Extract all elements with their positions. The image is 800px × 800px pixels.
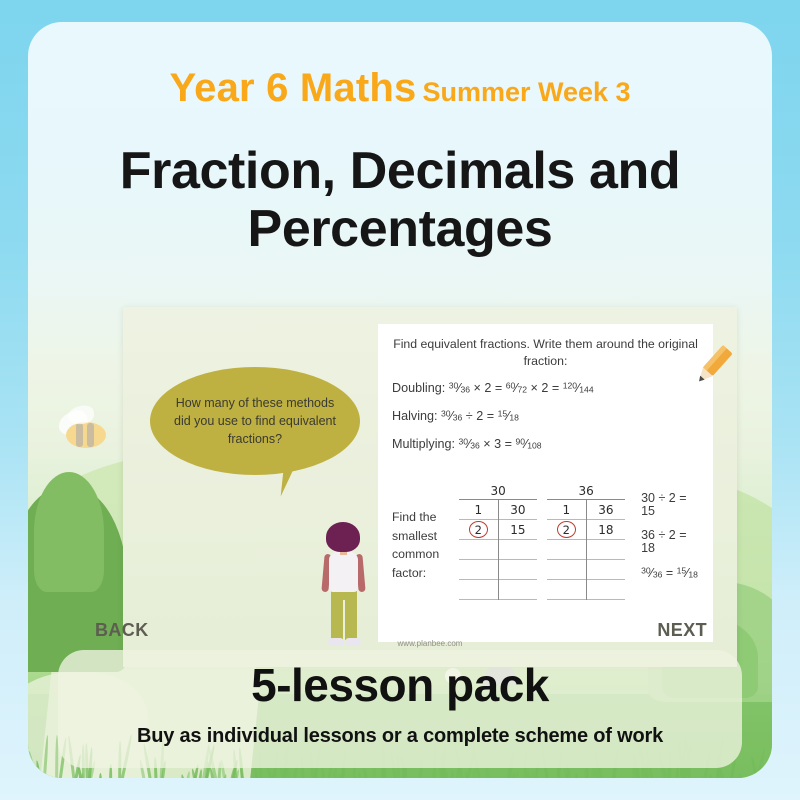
child-character — [316, 522, 372, 652]
den: 36 — [653, 569, 663, 579]
calculations-column: 30 ÷ 2 = 15 36 ÷ 2 = 18 30⁄36 = 15⁄18 — [625, 484, 703, 600]
circled-value: 2 — [469, 521, 488, 538]
cell-pair — [587, 560, 626, 579]
den: 36 — [453, 413, 463, 423]
speech-bubble: How many of these methods did you use to… — [150, 367, 360, 475]
fraction-15-18-a: 15⁄18 — [498, 408, 519, 424]
num: 30 — [641, 565, 651, 575]
pencil-icon — [683, 340, 737, 394]
page-title-line-2: Percentages — [68, 200, 732, 258]
bush-left-top — [34, 472, 104, 592]
num: 60 — [506, 381, 516, 391]
grass-blade — [357, 771, 362, 778]
num: 30 — [449, 381, 459, 391]
page-title: Fraction, Decimals and Percentages — [68, 142, 732, 258]
child-leg-gap — [343, 600, 345, 640]
cell-pair — [587, 580, 626, 599]
den: 36 — [470, 441, 480, 451]
lesson-slide-preview[interactable]: How many of these methods did you use to… — [123, 307, 737, 667]
fraction-30-36-c: 30⁄36 — [459, 436, 480, 452]
bee-body — [66, 422, 106, 448]
cell-pair: 36 — [587, 500, 626, 519]
den: 108 — [527, 441, 541, 451]
worksheet-line-multiplying: Multiplying: 30⁄36 × 3 = 90⁄108 — [392, 436, 699, 452]
factor-prompt-line-1: Find the — [392, 508, 457, 527]
grass-blade — [575, 773, 579, 778]
num: 90 — [516, 437, 526, 447]
table-divider — [498, 500, 499, 600]
grass-blade — [613, 774, 618, 778]
grass-blade — [527, 770, 530, 778]
worksheet-line-halving: Halving: 30⁄36 ÷ 2 = 15⁄18 — [392, 408, 699, 424]
cell-factor: 1 — [547, 500, 587, 519]
buy-label: Buy as individual lessons or a complete … — [28, 725, 772, 748]
factor-table-body: 130215 — [459, 500, 537, 600]
circled-value: 2 — [557, 521, 576, 538]
den: 18 — [509, 413, 519, 423]
factor-table-36: 36136218 — [547, 484, 625, 600]
cell-pair — [499, 560, 538, 579]
bee-stripe-1 — [76, 423, 83, 447]
pack-label: 5-lesson pack — [28, 658, 772, 712]
num: 30 — [441, 409, 451, 419]
fraction-120-144: 120⁄144 — [563, 380, 594, 396]
speech-bubble-tail — [281, 451, 312, 499]
poster-stage: Year 6 MathsSummer Week 3 Fraction, Deci… — [0, 0, 800, 800]
line-label-doubling: Doubling: — [392, 381, 445, 395]
factor-prompt-line-3: common — [392, 545, 457, 564]
cell-factor: 2 — [459, 520, 499, 539]
cell-factor — [547, 580, 587, 599]
den: 144 — [579, 385, 593, 395]
factor-table-30: 30130215 — [459, 484, 537, 600]
child-torso — [329, 552, 358, 592]
cell-factor — [459, 540, 499, 559]
num: 15 — [498, 409, 508, 419]
calculation-fraction-result: 30⁄36 = 15⁄18 — [641, 566, 703, 580]
child-hair — [326, 522, 360, 552]
grass-blade — [314, 771, 318, 778]
poster-kicker: Year 6 MathsSummer Week 3 — [28, 66, 772, 111]
op-doubling-2: × 2 = — [531, 381, 560, 395]
next-button[interactable]: NEXT — [657, 620, 707, 641]
line-label-halving: Halving: — [392, 409, 438, 423]
grass-blade — [184, 771, 191, 778]
line-label-multiplying: Multiplying: — [392, 437, 455, 451]
factor-prompt: Find the smallest common factor: — [392, 484, 457, 600]
cell-pair: 18 — [587, 520, 626, 539]
bee-stripe-2 — [87, 423, 94, 447]
cell-pair — [587, 540, 626, 559]
cell-pair: 15 — [499, 520, 538, 539]
equals-sign: = — [666, 566, 673, 580]
cell-factor — [547, 560, 587, 579]
den: 18 — [688, 569, 698, 579]
num: 30 — [459, 437, 469, 447]
factor-prompt-line-2: smallest — [392, 527, 457, 546]
kicker-subject: Year 6 Maths — [169, 66, 416, 110]
num: 15 — [677, 565, 687, 575]
grass-blade — [99, 773, 102, 778]
op-doubling-1: × 2 = — [474, 381, 503, 395]
slide-watermark: www.planbee.com — [123, 639, 737, 648]
grass-blade — [709, 774, 713, 778]
fraction-30-36-a: 30⁄36 — [449, 380, 470, 396]
worksheet-panel: Find equivalent fractions. Write them ar… — [378, 324, 713, 642]
factor-table-heading: 30 — [459, 484, 537, 500]
kicker-term: Summer Week 3 — [422, 77, 630, 107]
fraction-30-36-result: 30⁄36 — [641, 566, 662, 580]
table-divider — [586, 500, 587, 600]
fraction-90-108: 90⁄108 — [516, 436, 542, 452]
page-title-line-1: Fraction, Decimals and — [68, 142, 732, 200]
op-multiplying: × 3 = — [483, 437, 512, 451]
worksheet-instruction: Find equivalent fractions. Write them ar… — [392, 336, 699, 369]
bee-icon — [54, 414, 110, 450]
grass-blade — [448, 770, 455, 778]
factor-table-heading: 36 — [547, 484, 625, 500]
worksheet-lower-section: Find the smallest common factor: 3013021… — [392, 484, 703, 600]
fraction-60-72: 60⁄72 — [506, 380, 527, 396]
cell-factor — [459, 580, 499, 599]
fraction-30-36-b: 30⁄36 — [441, 408, 462, 424]
cell-factor: 1 — [459, 500, 499, 519]
factor-tables: 3013021536136218 — [457, 484, 625, 600]
den: 72 — [517, 385, 527, 395]
grass-blade — [530, 771, 534, 778]
den: 36 — [460, 385, 470, 395]
op-halving: ÷ 2 = — [466, 409, 494, 423]
cell-factor — [459, 560, 499, 579]
factor-prompt-line-4: factor: — [392, 564, 457, 583]
calculation-2: 36 ÷ 2 = 18 — [641, 529, 703, 554]
factor-table-body: 136218 — [547, 500, 625, 600]
num: 120 — [563, 381, 577, 391]
speech-bubble-text: How many of these methods did you use to… — [150, 394, 360, 448]
cell-pair: 30 — [499, 500, 538, 519]
calculation-1: 30 ÷ 2 = 15 — [641, 492, 703, 517]
cell-factor — [547, 540, 587, 559]
back-button[interactable]: BACK — [95, 620, 149, 641]
worksheet-line-doubling: Doubling: 30⁄36 × 2 = 60⁄72 × 2 = 120⁄14… — [392, 380, 699, 396]
poster-card: Year 6 MathsSummer Week 3 Fraction, Deci… — [28, 22, 772, 778]
cell-pair — [499, 540, 538, 559]
cell-pair — [499, 580, 538, 599]
grass-blade — [738, 773, 741, 778]
cell-factor: 2 — [547, 520, 587, 539]
fraction-15-18-result: 15⁄18 — [677, 566, 698, 580]
grass-blade — [770, 771, 772, 778]
